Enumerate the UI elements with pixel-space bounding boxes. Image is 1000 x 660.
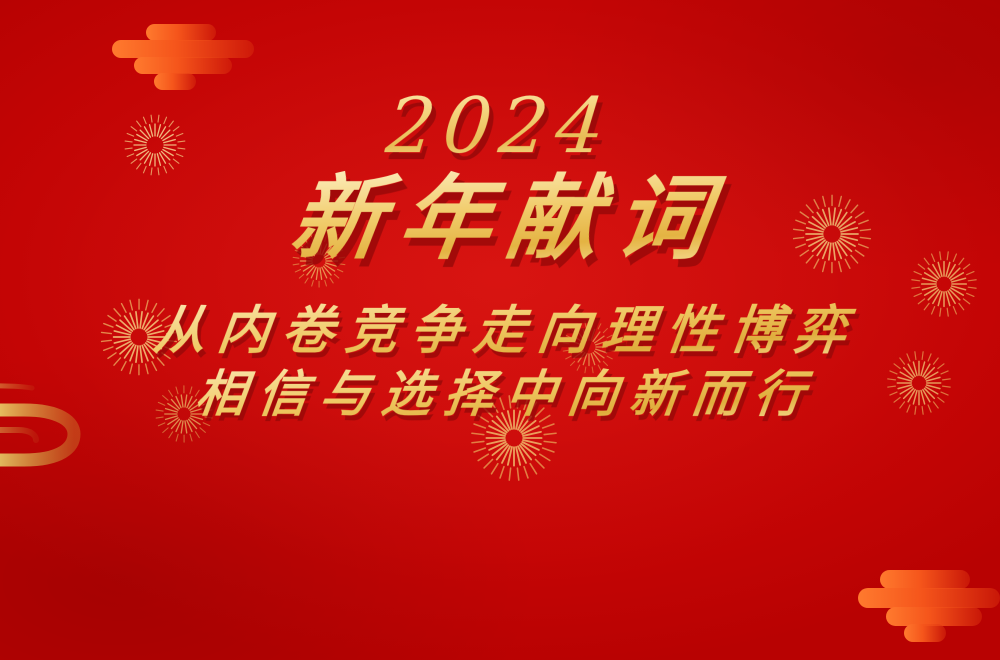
page-title: 新年献词 bbox=[269, 170, 731, 268]
year-heading: 2024 bbox=[383, 88, 616, 164]
poster-text-block: 2024 新年献词 从内卷竞争走向理性博弈 相信与选择中向新而行 bbox=[0, 0, 1000, 660]
subtitle-line-2: 相信与选择中向新而行 bbox=[181, 366, 820, 422]
new-year-poster: 2024 新年献词 从内卷竞争走向理性博弈 相信与选择中向新而行 bbox=[0, 0, 1000, 660]
subtitle-line-1: 从内卷竞争走向理性博弈 bbox=[138, 302, 861, 360]
subtitle-block: 从内卷竞争走向理性博弈 相信与选择中向新而行 bbox=[142, 302, 858, 422]
